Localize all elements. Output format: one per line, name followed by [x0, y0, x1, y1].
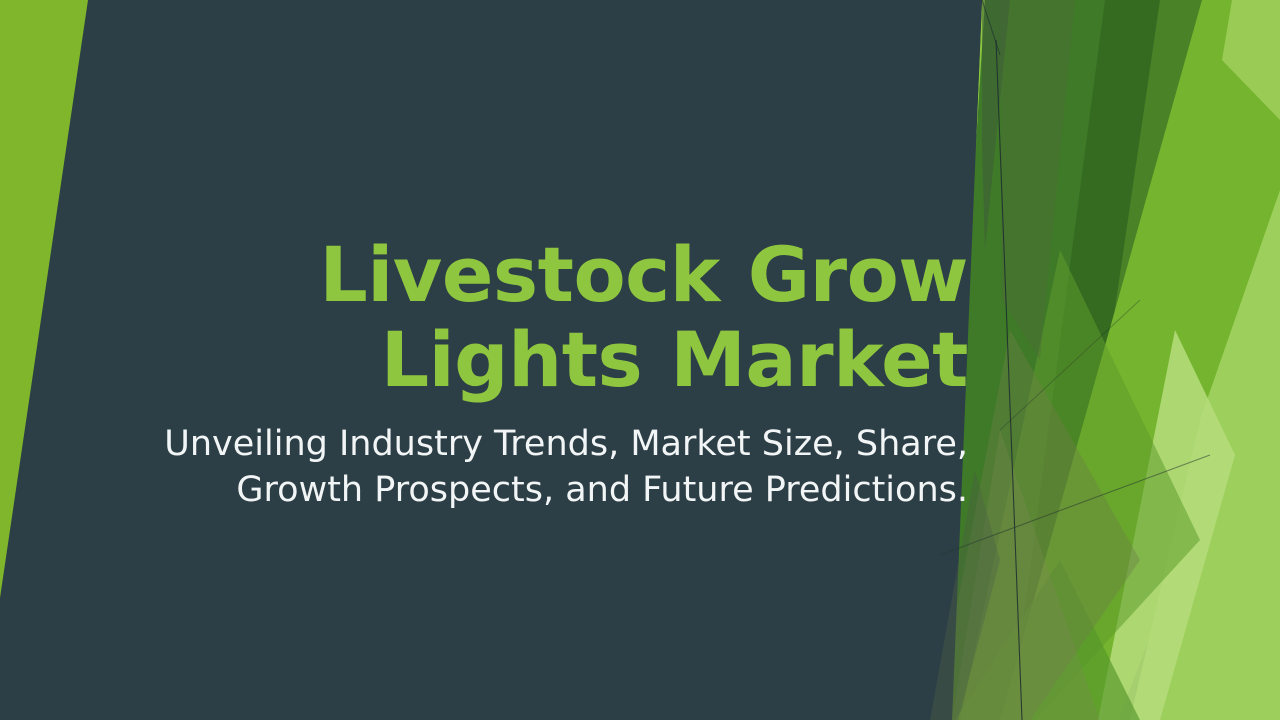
slide-subtitle: Unveiling Industry Trends, Market Size, … — [110, 422, 968, 513]
presentation-slide: Livestock Grow Lights Market Unveiling I… — [0, 0, 1280, 720]
page-title: Livestock Grow Lights Market — [110, 232, 968, 402]
slide-text-block: Livestock Grow Lights Market Unveiling I… — [110, 232, 968, 513]
